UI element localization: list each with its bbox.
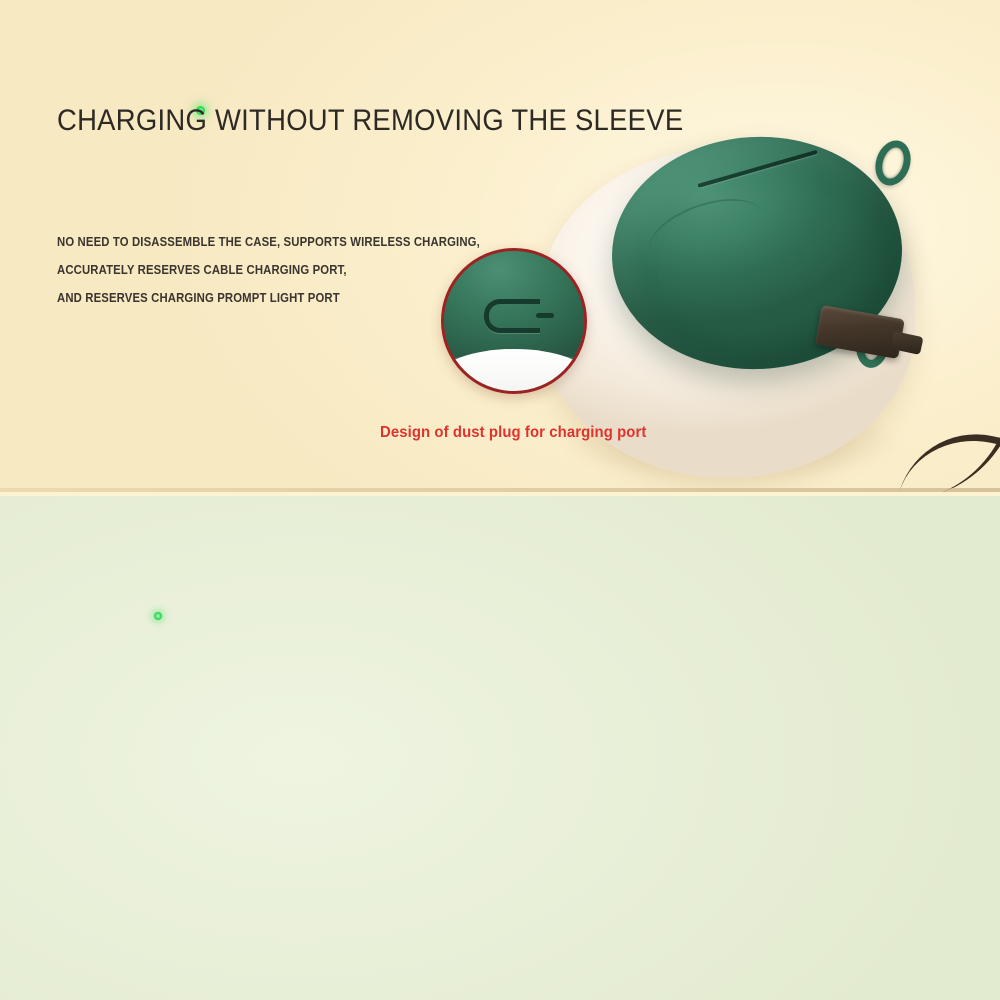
- case-seam-line: [640, 186, 773, 282]
- panel-support-wireless-charging: SUPPORT WIRELESS CHARGING PUT IT DOWN AN…: [0, 496, 1000, 1000]
- page-title-top: CHARGING WITHOUT REMOVING THE SLEEVE: [57, 104, 683, 138]
- magnifier-white-base: [441, 349, 587, 394]
- case-lid-slot: [697, 150, 817, 188]
- description-top: NO NEED TO DISASSEMBLE THE CASE, SUPPORT…: [57, 228, 527, 312]
- infographic-stage: CHARGING WITHOUT REMOVING THE SLEEVE NO …: [0, 0, 1000, 1000]
- dust-plug-caption: Design of dust plug for charging port: [380, 424, 646, 442]
- charging-indicator-led: [154, 612, 162, 620]
- dust-plug-tip-icon: [536, 313, 554, 318]
- carabiner-loop-icon: [870, 136, 917, 190]
- panel-charging-without-removing-sleeve: CHARGING WITHOUT REMOVING THE SLEEVE NO …: [0, 0, 1000, 492]
- description-line-2: ACCURATELY RESERVES CABLE CHARGING PORT,: [57, 256, 480, 284]
- description-line-1: NO NEED TO DISASSEMBLE THE CASE, SUPPORT…: [57, 228, 480, 256]
- description-line-3: AND RESERVES CHARGING PROMPT LIGHT PORT: [57, 284, 480, 312]
